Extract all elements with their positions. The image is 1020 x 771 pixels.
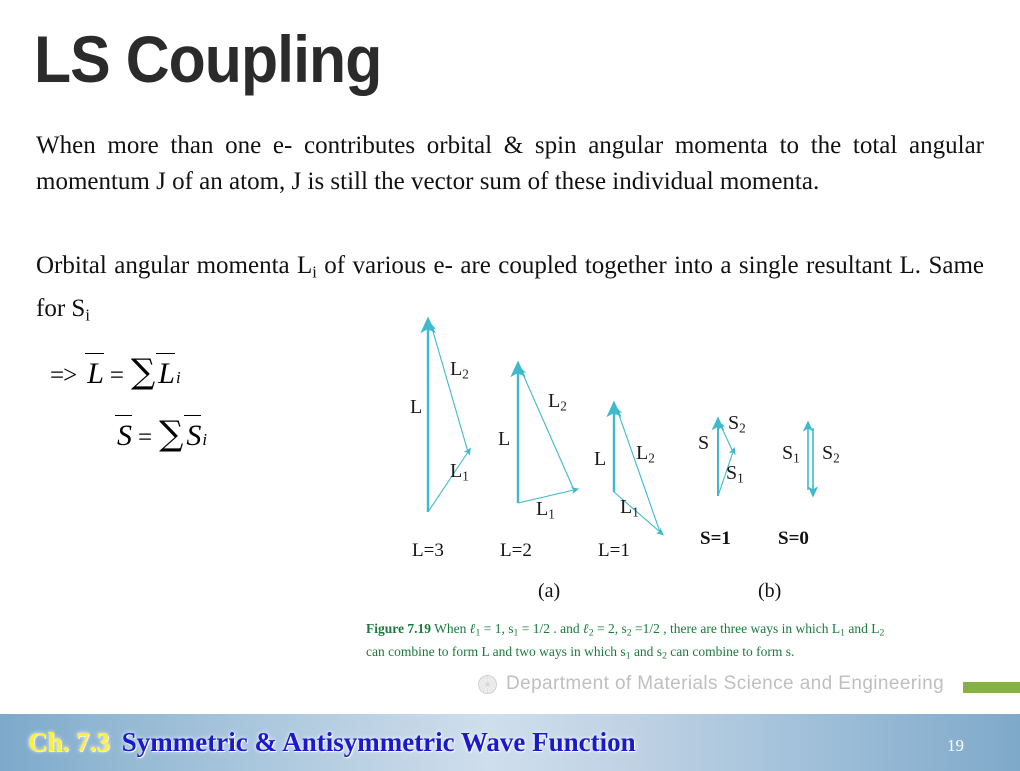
vector-L: L [86,357,105,391]
paragraph-2-sub-i2: i [85,305,90,324]
summation-sign-2: ∑ [159,414,183,454]
page-title: LS Coupling [34,24,381,94]
caption-figure-number: Figure 7.19 [366,621,431,636]
equals-sign-1: = [110,362,124,390]
paragraph-2-text-a: Orbital angular momenta L [36,252,312,279]
label-L1-triangle-1: L1 [450,460,469,484]
panel-label-a: (a) [538,580,560,603]
bottom-banner: Ch. 7.3Symmetric & Antisymmetric Wave Fu… [0,714,1020,771]
label-S1-spin-2: S1 [782,442,800,466]
banner-title: Ch. 7.3Symmetric & Antisymmetric Wave Fu… [28,727,636,758]
figure-caption: Figure 7.19 When ℓ1 = 1, s1 = 1/2 . and … [366,619,906,666]
body-paragraph-1: When more than one e- contributes orbita… [36,128,984,200]
label-L1-triangle-3: L1 [620,496,639,520]
case-label-L2: L=2 [500,540,532,562]
equation-S: S = ∑ S i [116,414,310,454]
vector-coupling-figure: L L1 L2 L=3 L L1 L2 L=2 L L1 L2 L=1 S S2… [396,300,916,590]
accent-bar [963,682,1020,693]
equation-L: => L = ∑ L i [50,352,310,392]
case-label-S1: S=1 [700,528,731,550]
label-L-triangle-1: L [410,396,422,419]
vector-L-i: L [157,357,176,391]
label-S1-spin-1: S1 [726,462,744,486]
vector-S-i: S [185,419,202,453]
panel-label-b: (b) [758,580,781,603]
label-L2-triangle-3: L2 [636,442,655,466]
chapter-label: Ch. 7.3 [28,727,110,757]
page-number: 19 [947,736,964,756]
label-L2-triangle-1: L2 [450,358,469,382]
summation-sign-1: ∑ [131,352,155,392]
slide-canvas: LS Coupling When more than one e- contri… [0,0,1020,771]
label-L-triangle-3: L [594,448,606,471]
equals-sign-2: = [138,424,152,452]
triangle-L3 [428,328,468,512]
case-label-L3: L=3 [412,540,444,562]
label-S2-spin-1: S2 [728,412,746,436]
subscript-i-1: i [176,368,181,388]
implies-operator: => [50,362,76,390]
label-S-spin-1: S [698,432,709,455]
equation-block: => L = ∑ L i S = ∑ S i [50,352,310,454]
subscript-i-2: i [202,430,207,450]
label-L-triangle-2: L [498,428,510,451]
department-footer: Department of Materials Science and Engi… [478,673,944,695]
label-L1-triangle-2: L1 [536,498,555,522]
department-name: Department of Materials Science and Engi… [506,673,944,695]
university-seal-icon [478,675,497,694]
spin-diagram-S0 [808,428,813,490]
vector-S: S [116,419,133,453]
label-L2-triangle-2: L2 [548,390,567,414]
case-label-L1: L=1 [598,540,630,562]
label-S2-spin-2: S2 [822,442,840,466]
case-label-S0: S=0 [778,528,809,550]
subject-label: Symmetric & Antisymmetric Wave Function [122,727,636,757]
